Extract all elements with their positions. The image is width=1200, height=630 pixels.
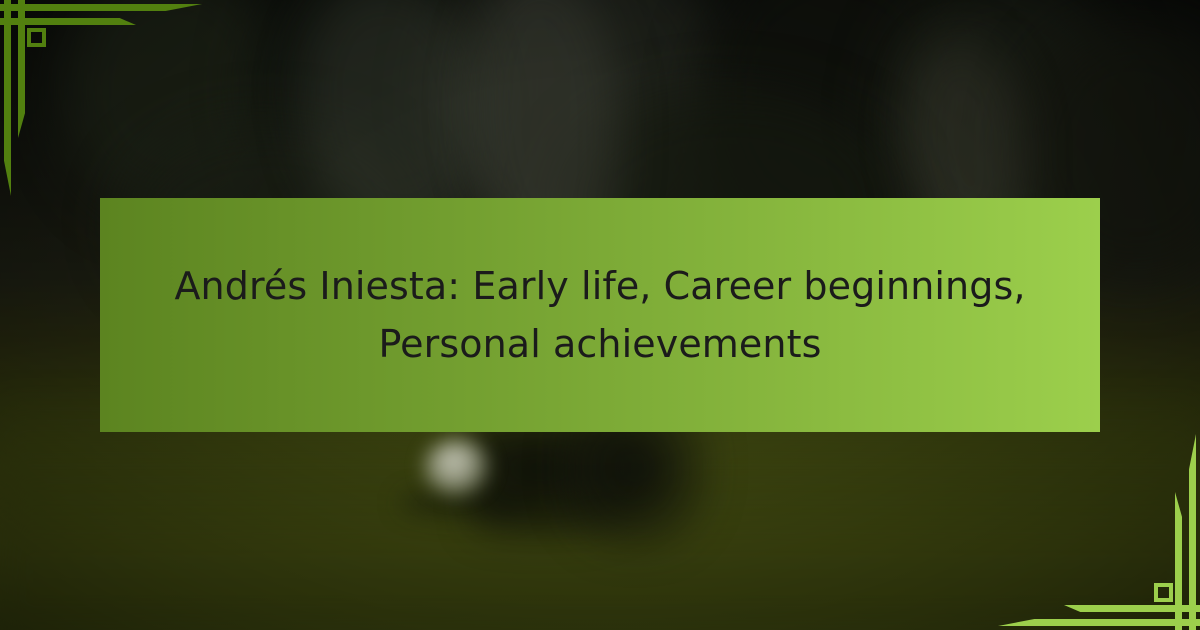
bracket-line-horizontal-outer [0,4,202,11]
bracket-line-horizontal-inner [1064,605,1200,612]
page-title-line-2: Personal achievements [379,322,822,366]
page-title-line-1: Andrés Iniesta: Early life, Career begin… [174,264,1025,308]
corner-bracket-top-left-icon [0,0,230,230]
bracket-line-vertical-outer [1189,434,1196,630]
corner-bracket-bottom-right-icon [970,400,1200,630]
bracket-square-icon [27,28,46,47]
title-card: Andrés Iniesta: Early life, Career begin… [100,198,1100,432]
social-card-canvas: Andrés Iniesta: Early life, Career begin… [0,0,1200,630]
bracket-line-horizontal-outer [998,619,1200,626]
bracket-line-vertical-outer [4,0,11,196]
page-title: Andrés Iniesta: Early life, Career begin… [160,257,1040,373]
bracket-square-icon [1154,583,1173,602]
bracket-line-horizontal-inner [0,18,136,25]
